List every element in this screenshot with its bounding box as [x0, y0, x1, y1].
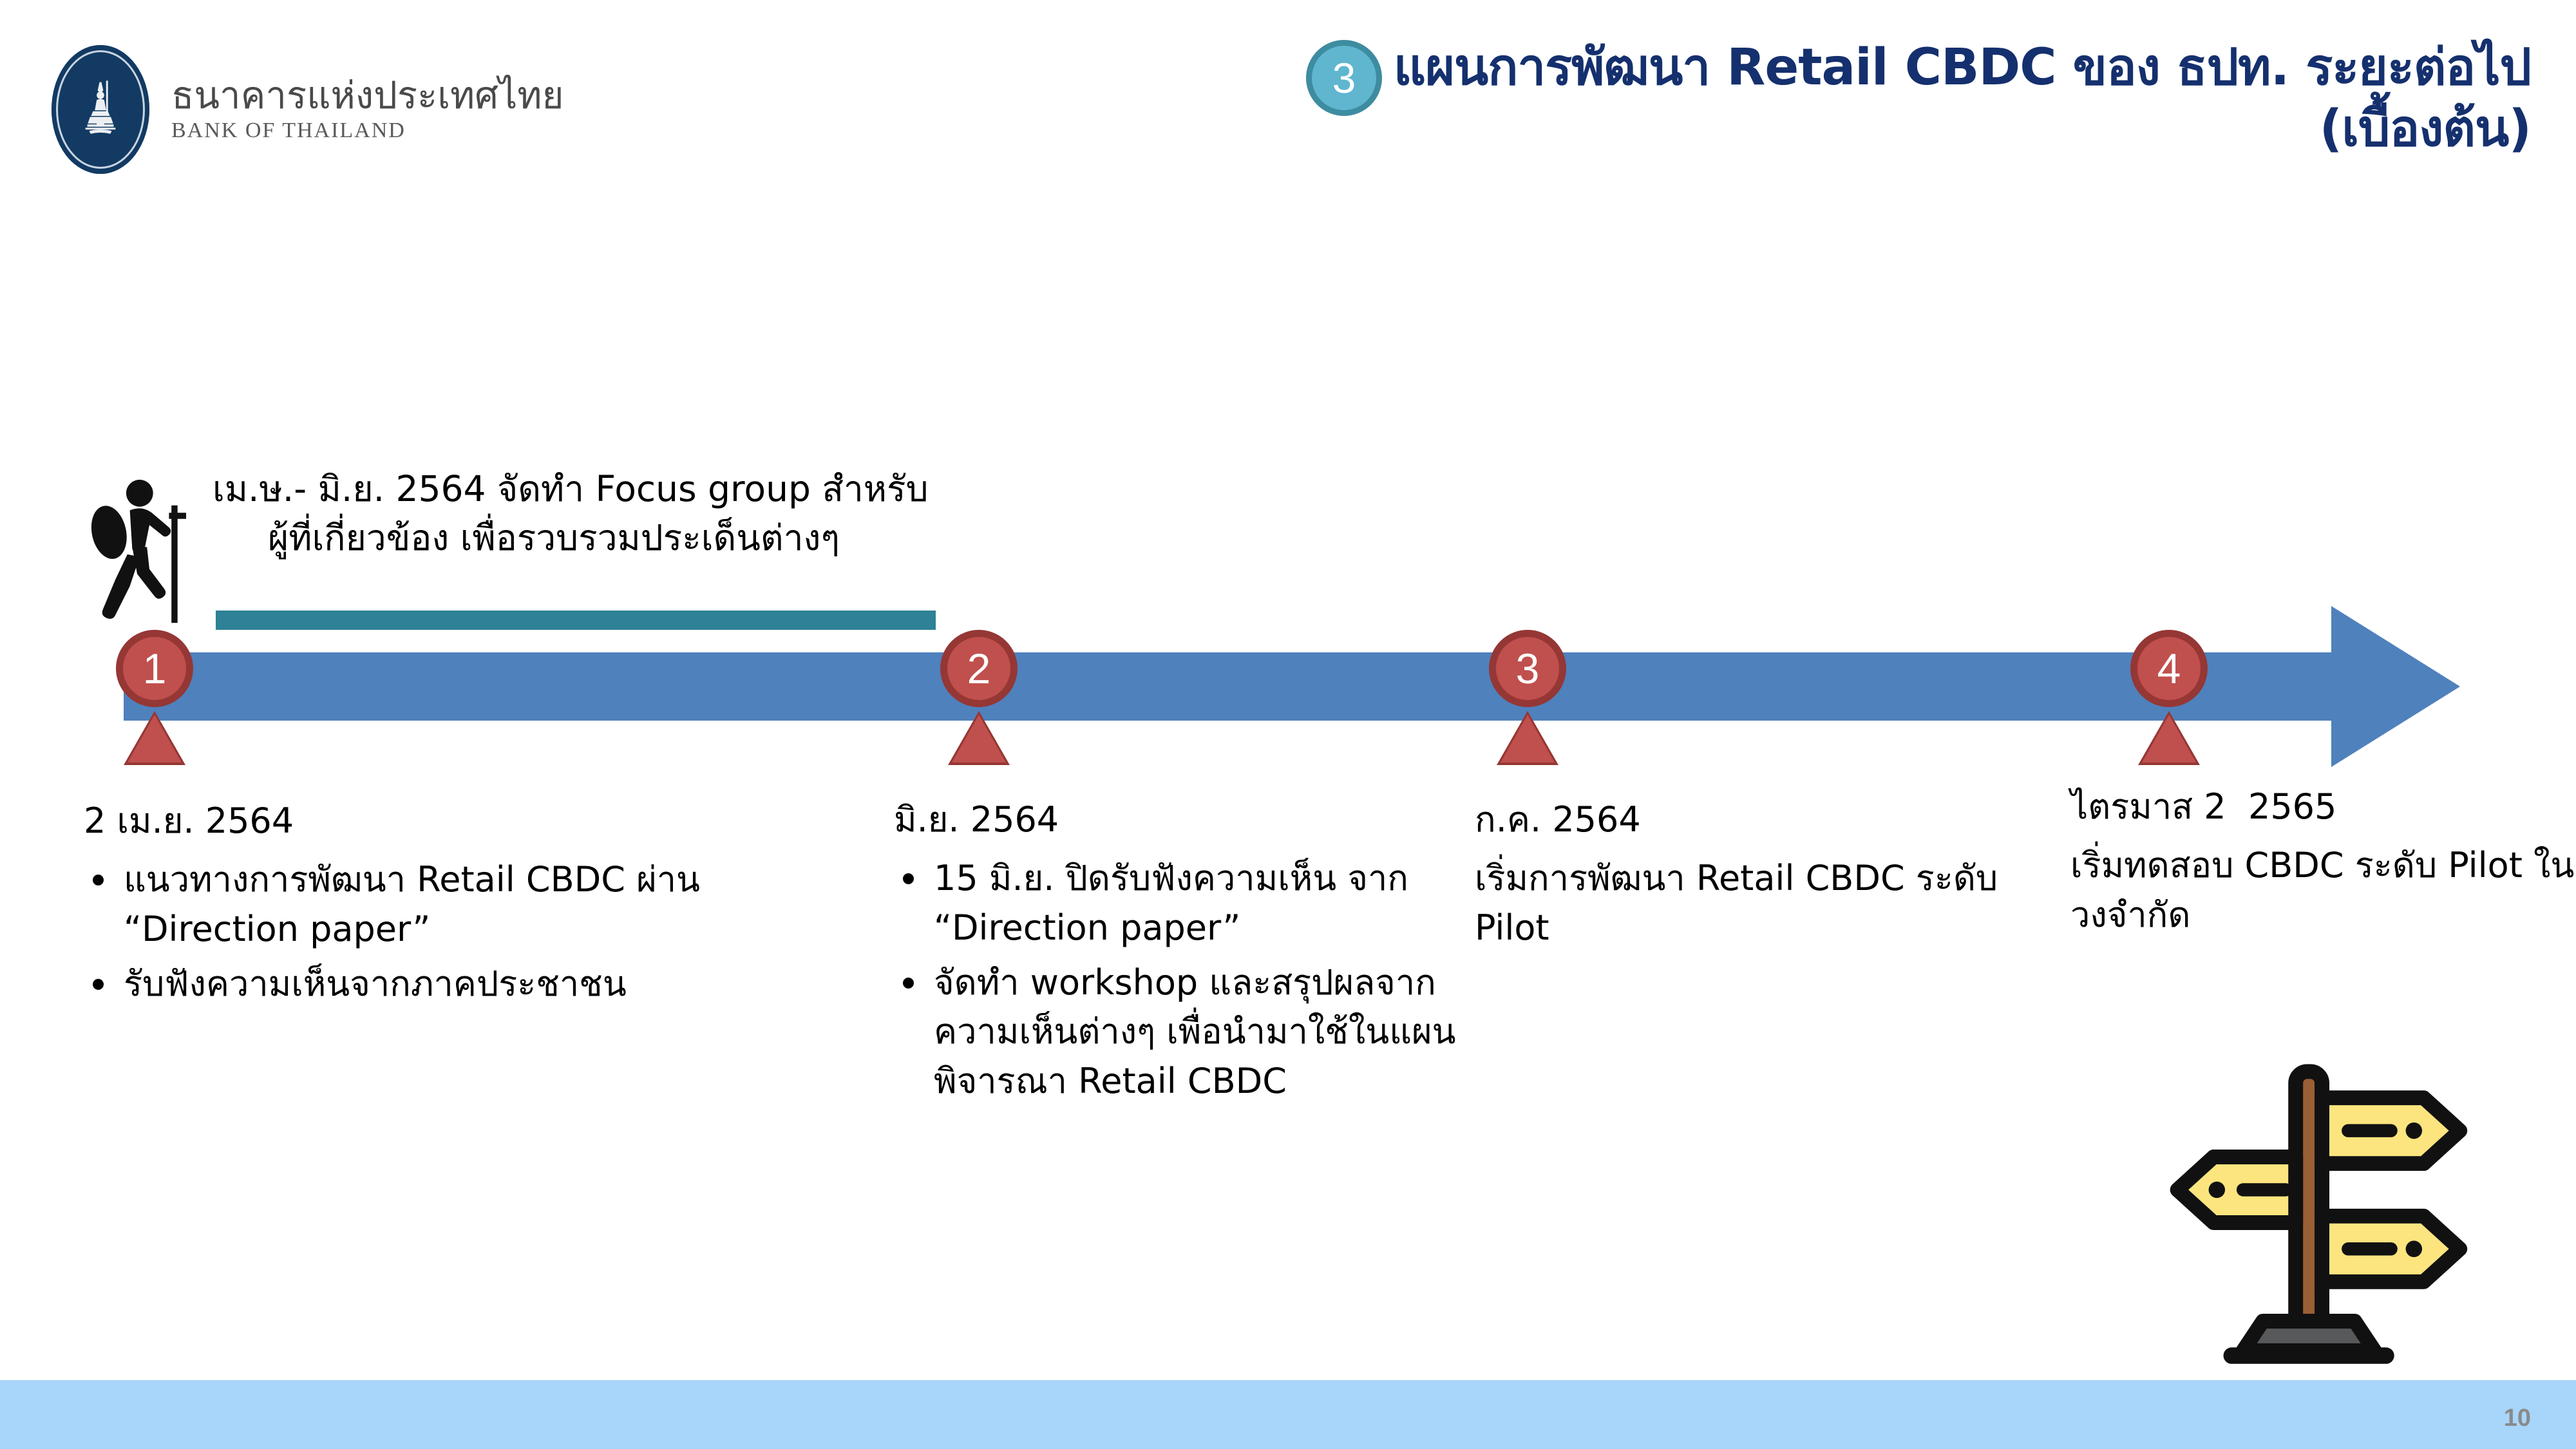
milestone-body-3: เริ่มการพัฒนา Retail CBDC ระดับ Pilot [1475, 854, 2003, 952]
callout-underline-bar [216, 611, 936, 630]
footer-bar [0, 1380, 2576, 1449]
timeline-arrow-head-icon [2331, 606, 2460, 767]
hiker-icon [76, 478, 198, 626]
page-number: 10 [2504, 1405, 2531, 1432]
seal-figure-icon [77, 71, 124, 151]
milestone-date-2: มิ.ย. 2564 [894, 797, 1473, 842]
milestone-date-3: ก.ค. 2564 [1475, 797, 2003, 842]
marker-number-4: 4 [2130, 630, 2208, 707]
milestone-column-4: ไตรมาส 2 2565 เริ่มทดสอบ CBDC ระดับ Pilo… [2070, 784, 2576, 940]
page-title: แผนการพัฒนา Retail CBDC ของ ธปท. ระยะต่อ… [1394, 37, 2531, 160]
list-item: จัดทำ workshop และสรุปผลจากความเห็นต่างๆ… [894, 958, 1473, 1106]
signpost-icon [2138, 1042, 2473, 1370]
milestone-column-3: ก.ค. 2564 เริ่มการพัฒนา Retail CBDC ระดั… [1475, 797, 2003, 953]
milestone-column-2: มิ.ย. 2564 15 มิ.ย. ปิดรับฟังความเห็น จา… [894, 797, 1473, 1112]
list-item: แนวทางการพัฒนา Retail CBDC ผ่าน “Directi… [84, 855, 837, 954]
marker-triangle-icon-3 [1501, 715, 1555, 762]
milestone-date-4: ไตรมาส 2 2565 [2070, 784, 2576, 829]
marker-triangle-icon-2 [952, 715, 1006, 762]
milestone-bullets-1: แนวทางการพัฒนา Retail CBDC ผ่าน “Directi… [84, 855, 837, 1009]
milestone-date-1: 2 เม.ย. 2564 [84, 799, 837, 844]
marker-triangle-icon-1 [128, 715, 182, 762]
milestone-body-4: เริ่มทดสอบ CBDC ระดับ Pilot ในวงจำกัด [2070, 841, 2576, 940]
slide-title-block: 3 แผนการพัฒนา Retail CBDC ของ ธปท. ระยะต… [1037, 37, 2531, 160]
page-title-line1: แผนการพัฒนา Retail CBDC ของ ธปท. ระยะต่อ… [1394, 39, 2531, 97]
marker-triangle-icon-4 [2142, 715, 2196, 762]
page-title-line2: (เบื้องต้น) [1394, 99, 2531, 160]
bank-of-thailand-logo: ธนาคารแห่งประเทศไทย BANK OF THAILAND [52, 45, 563, 174]
logo-english-name: BANK OF THAILAND [171, 118, 563, 143]
callout-text: เม.ษ.- มิ.ย. 2564 จัดทำ Focus group สำหร… [213, 465, 1114, 563]
marker-number-3: 3 [1489, 630, 1566, 707]
list-item: 15 มิ.ย. ปิดรับฟังความเห็น จาก “Directio… [894, 854, 1473, 952]
marker-number-2: 2 [940, 630, 1018, 707]
callout-line1: เม.ษ.- มิ.ย. 2564 จัดทำ Focus group สำหร… [213, 468, 929, 509]
list-item: รับฟังความเห็นจากภาคประชาชน [84, 960, 837, 1009]
bot-seal-icon [52, 45, 149, 174]
logo-thai-name: ธนาคารแห่งประเทศไทย [171, 76, 563, 115]
logo-wordmark: ธนาคารแห่งประเทศไทย BANK OF THAILAND [171, 76, 563, 144]
milestone-bullets-2: 15 มิ.ย. ปิดรับฟังความเห็น จาก “Directio… [894, 854, 1473, 1106]
marker-number-1: 1 [116, 630, 193, 707]
section-number-badge: 3 [1306, 40, 1382, 116]
callout-line2: ผู้ที่เกี่ยวข้อง เพื่อรวบรวมประเด็นต่างๆ [213, 514, 1114, 563]
milestone-column-1: 2 เม.ย. 2564 แนวทางการพัฒนา Retail CBDC … [84, 799, 837, 1014]
timeline-bar [124, 652, 2333, 721]
